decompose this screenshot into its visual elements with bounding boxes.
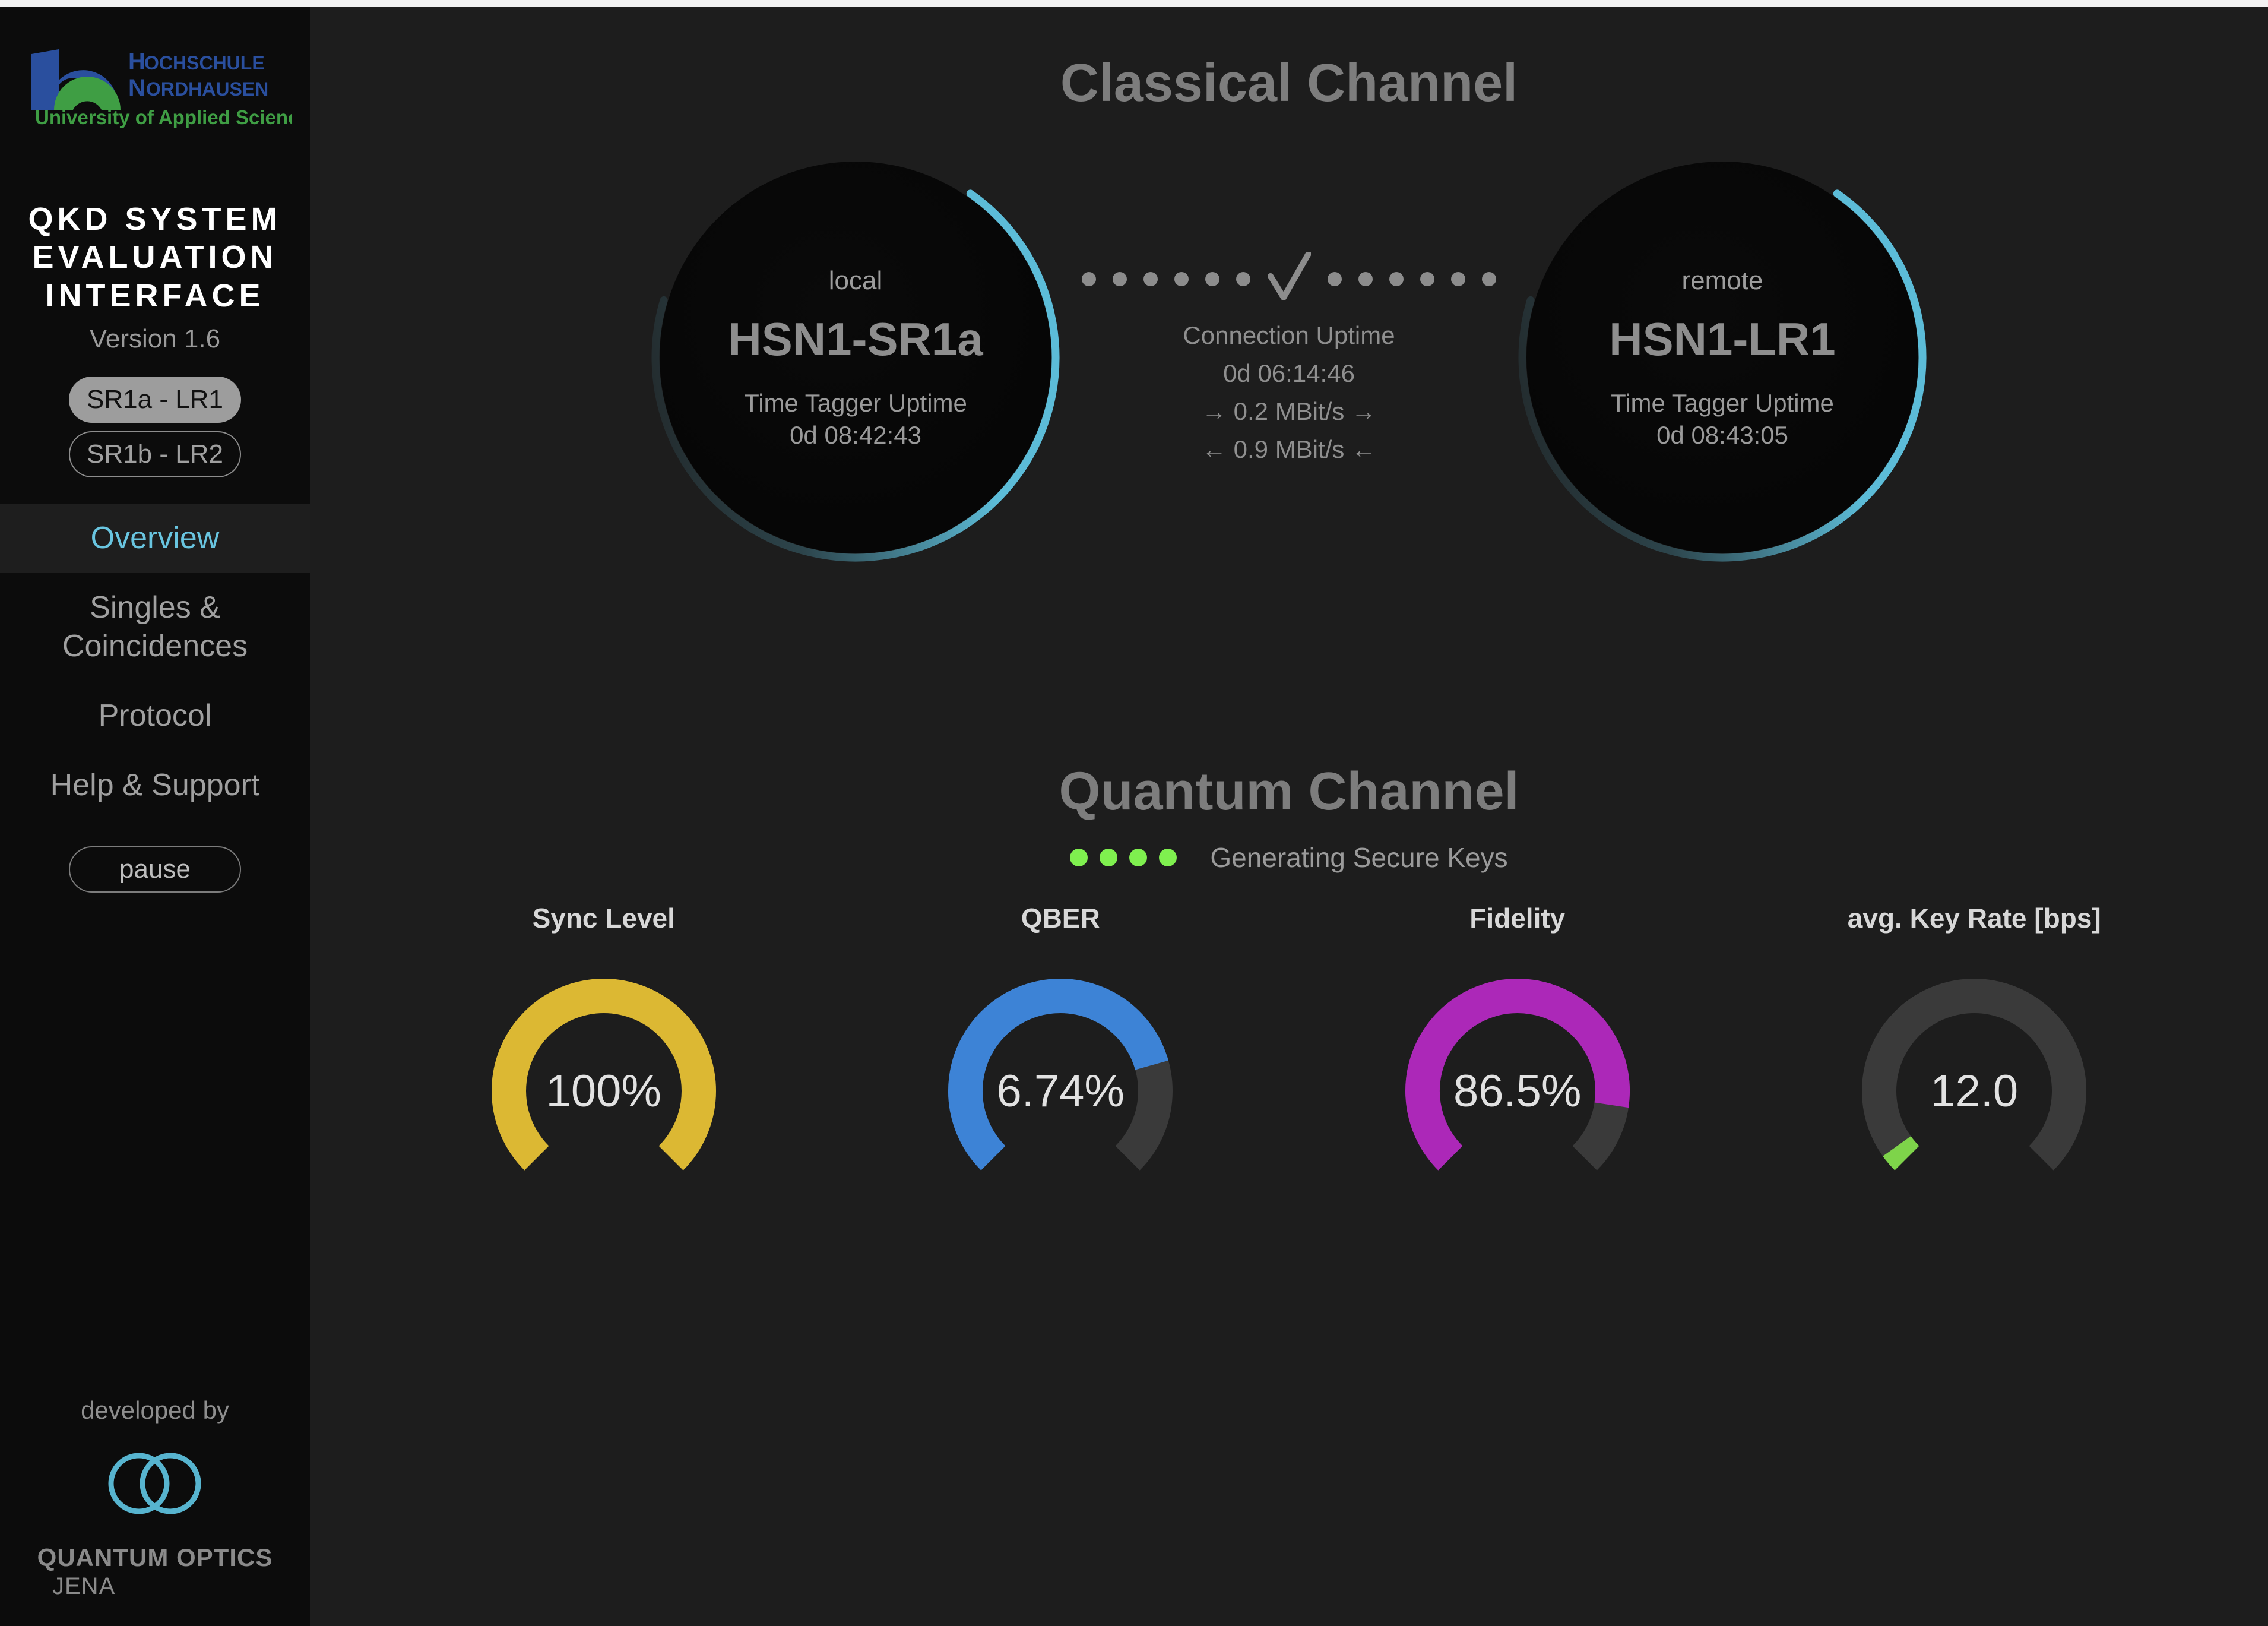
quantum-gauges: Sync Level 100% QBER 6.74% Fidelity 86.5… xyxy=(310,902,2268,1216)
gauge-ring: 12.0 xyxy=(1849,966,2099,1216)
connection-dot xyxy=(1113,272,1127,286)
connection-dot xyxy=(1451,272,1465,286)
connection-dot xyxy=(1174,272,1189,286)
classical-channel-title: Classical Channel xyxy=(310,53,2268,114)
sidebar: H OCHSCHULE N ORDHAUSEN University of Ap… xyxy=(0,7,310,1626)
gauge-ring: 86.5% xyxy=(1393,966,1642,1216)
app-version: Version 1.6 xyxy=(0,324,310,354)
remote-node-uptime-value: 0d 08:43:05 xyxy=(1656,421,1788,450)
local-node-card[interactable]: local HSN1-SR1a Time Tagger Uptime 0d 08… xyxy=(648,150,1063,565)
quantum-status-text: Generating Secure Keys xyxy=(1210,842,1507,874)
gauge-label: Fidelity xyxy=(1469,902,1565,934)
svg-text:ORDHAUSEN: ORDHAUSEN xyxy=(146,78,268,100)
local-node-role: local xyxy=(829,266,883,296)
gauge-label: Sync Level xyxy=(533,902,675,934)
quantum-status-row: Generating Secure Keys xyxy=(310,842,2268,874)
quantum-optics-jena-logo xyxy=(91,1439,219,1528)
connection-rate-outbound: → 0.2 MBit/s → xyxy=(1183,393,1395,431)
status-dot xyxy=(1100,849,1117,866)
sidebar-item-protocol[interactable]: Protocol xyxy=(0,681,310,751)
checkmark-icon xyxy=(1267,252,1311,306)
local-node-name: HSN1-SR1a xyxy=(728,312,983,366)
gauge-avg-key-rate: avg. Key Rate [bps] 12.0 xyxy=(1820,902,2128,1216)
connection-indicator: Connection Uptime 0d 06:14:46 → 0.2 MBit… xyxy=(1063,246,1515,468)
local-node-uptime-value: 0d 08:42:43 xyxy=(790,421,921,450)
sidebar-nav: Overview Singles & Coincidences Protocol… xyxy=(0,504,310,820)
app-window: H OCHSCHULE N ORDHAUSEN University of Ap… xyxy=(0,7,2268,1626)
sidebar-item-overview[interactable]: Overview xyxy=(0,504,310,573)
connection-uptime-value: 0d 06:14:46 xyxy=(1183,355,1395,393)
status-dot xyxy=(1070,849,1088,866)
connection-uptime-label: Connection Uptime xyxy=(1183,317,1395,355)
developed-by-label: developed by xyxy=(81,1396,229,1425)
remote-node-role: remote xyxy=(1682,266,1763,296)
link-pill-sr1a-lr1[interactable]: SR1a - LR1 xyxy=(69,377,241,423)
quantum-channel-title: Quantum Channel xyxy=(310,761,2268,823)
connection-dot xyxy=(1328,272,1342,286)
hochschule-nordhausen-logo: H OCHSCHULE N ORDHAUSEN University of Ap… xyxy=(18,35,292,148)
link-pill-sr1b-lr2[interactable]: SR1b - LR2 xyxy=(69,431,241,477)
remote-node-name: HSN1-LR1 xyxy=(1609,312,1835,366)
connection-dot xyxy=(1143,272,1158,286)
connection-dot xyxy=(1420,272,1434,286)
connection-dot xyxy=(1358,272,1373,286)
local-node-uptime-label: Time Tagger Uptime xyxy=(744,389,967,417)
sidebar-item-help-support[interactable]: Help & Support xyxy=(0,751,310,820)
remote-node-card[interactable]: remote HSN1-LR1 Time Tagger Uptime 0d 08… xyxy=(1515,150,1930,565)
sidebar-item-singles-coincidences[interactable]: Singles & Coincidences xyxy=(0,573,310,681)
pause-button-wrap: pause xyxy=(0,846,310,893)
quantum-status-dots xyxy=(1070,849,1177,866)
classical-channel-nodes: local HSN1-SR1a Time Tagger Uptime 0d 08… xyxy=(310,132,2268,583)
link-selector-group: SR1a - LR1 SR1b - LR2 xyxy=(0,377,310,477)
connection-dot xyxy=(1082,272,1096,286)
app-title: QKD SYSTEM EVALUATION INTERFACE xyxy=(0,200,310,315)
connection-rate-inbound: ← 0.9 MBit/s ← xyxy=(1183,431,1395,469)
status-dot xyxy=(1159,849,1177,866)
gauge-ring: 6.74% xyxy=(936,966,1185,1216)
gauge-label: avg. Key Rate [bps] xyxy=(1848,902,2101,934)
company-name: QUANTUM OPTICS xyxy=(37,1543,273,1572)
status-dot xyxy=(1129,849,1147,866)
remote-node-uptime-label: Time Tagger Uptime xyxy=(1611,389,1834,417)
connection-dot xyxy=(1205,272,1219,286)
gauge-label: QBER xyxy=(1021,902,1100,934)
company-city: JENA xyxy=(52,1573,115,1600)
gauge-qber: QBER 6.74% xyxy=(906,902,1215,1216)
gauge-value: 6.74% xyxy=(936,966,1185,1216)
svg-text:H: H xyxy=(128,49,145,75)
gauge-sync-level: Sync Level 100% xyxy=(449,902,758,1216)
svg-text:OCHSCHULE: OCHSCHULE xyxy=(144,52,265,74)
connection-dot xyxy=(1389,272,1404,286)
main-content: Classical Channel xyxy=(310,7,2268,1626)
connection-dot xyxy=(1482,272,1496,286)
gauge-ring: 100% xyxy=(479,966,728,1216)
gauge-value: 86.5% xyxy=(1393,966,1642,1216)
sidebar-footer: developed by QUANTUM OPTICS JENA xyxy=(0,1396,310,1600)
pause-button[interactable]: pause xyxy=(69,846,241,893)
gauge-fidelity: Fidelity 86.5% xyxy=(1363,902,1672,1216)
svg-text:University of Applied Sciences: University of Applied Sciences xyxy=(35,106,292,128)
svg-text:N: N xyxy=(128,75,145,101)
connection-dots xyxy=(1082,246,1496,312)
connection-dot xyxy=(1236,272,1250,286)
gauge-value: 12.0 xyxy=(1849,966,2099,1216)
gauge-value: 100% xyxy=(479,966,728,1216)
